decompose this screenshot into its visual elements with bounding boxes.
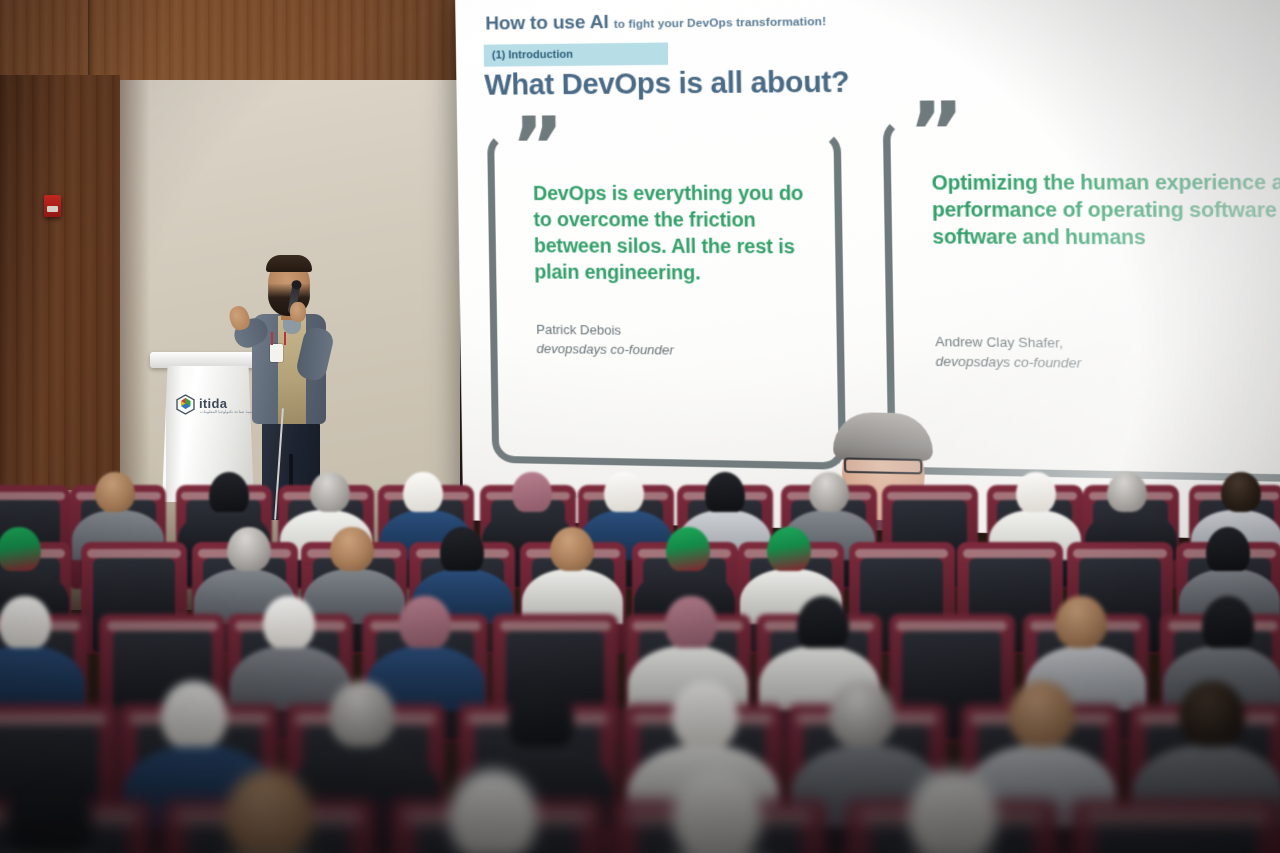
audience-member-head — [227, 527, 271, 571]
audience-member-head — [797, 596, 849, 648]
slide-title: What DevOps is all about? — [484, 66, 849, 103]
devopsdays-logo: DevOpsDays — [662, 0, 735, 1]
audience-member-head — [5, 770, 93, 853]
audience-member-head — [508, 681, 574, 747]
audience-member-head — [0, 596, 51, 648]
quote-text: Optimizing the human experience and perf… — [931, 170, 1280, 253]
audience-member-head — [550, 527, 594, 571]
auditorium-seat — [1071, 800, 1280, 853]
speaker-hair — [266, 255, 312, 272]
slide-kicker: How to use AI to fight your DevOps trans… — [485, 9, 826, 36]
fire-alarm-icon — [44, 195, 61, 217]
quote-mark-icon: ” — [908, 92, 961, 175]
audience-member-head — [449, 770, 537, 853]
seat-highlight — [500, 621, 611, 631]
seat-highlight — [855, 549, 948, 558]
audience-member-head — [1202, 596, 1254, 648]
seat-highlight — [0, 492, 65, 500]
seat-highlight — [963, 549, 1056, 558]
quote-card-debois: ” DevOps is everything you do to overcom… — [487, 130, 846, 470]
audience-member-head — [672, 681, 738, 747]
quote-mark-icon: ” — [511, 107, 561, 188]
seat-highlight — [887, 492, 971, 500]
audience-member-head — [263, 596, 315, 648]
audience-member-head — [399, 596, 451, 648]
audience-member-head — [225, 770, 313, 853]
seat-highlight — [1073, 549, 1166, 558]
seat-highlight — [107, 621, 218, 631]
quote-attribution: Andrew Clay Shafer, devopsdays co-founde… — [935, 333, 1280, 377]
audience-member-head — [829, 681, 895, 747]
audience-member-head — [673, 770, 761, 853]
seat-highlight — [896, 621, 1007, 631]
audience-member-head — [666, 527, 710, 571]
speaker-lanyard-badge — [270, 344, 283, 362]
quote-text: DevOps is everything you do to overcome … — [533, 182, 826, 289]
itida-hexagon-icon — [176, 394, 195, 415]
seat-highlight — [0, 713, 107, 725]
quote-role: devopsdays co-founder — [536, 340, 829, 362]
seat-back-pad — [1094, 824, 1259, 853]
audience-member-head — [1206, 527, 1250, 571]
audience-row — [0, 742, 1280, 853]
audience-member-head — [1009, 681, 1075, 747]
seat-highlight — [1083, 810, 1270, 824]
kicker-strong: How to use AI — [485, 12, 609, 35]
audience-member-head — [1055, 596, 1107, 648]
kicker-rest: to fight your DevOps transformation! — [614, 16, 827, 31]
quote-attribution: Patrick Debois devopsdays co-founder — [536, 321, 830, 362]
audience-member-head — [909, 770, 997, 853]
audience-member-head — [1179, 681, 1245, 747]
audience-member-head — [0, 527, 41, 571]
audience-member-head — [665, 596, 717, 648]
audience-seating — [0, 430, 1280, 853]
audience-member-head — [767, 527, 811, 571]
audience-member-head — [330, 527, 374, 571]
speaker-right-hand — [290, 302, 306, 322]
conference-photo-scene: DevOpsDays How to use AI to fight your D… — [0, 0, 1280, 853]
slide-section-badge: (1) Introduction — [484, 42, 668, 66]
seat-highlight — [87, 549, 180, 558]
audience-member-head — [440, 527, 484, 571]
audience-member-head — [161, 681, 227, 747]
audience-member-head — [329, 681, 395, 747]
